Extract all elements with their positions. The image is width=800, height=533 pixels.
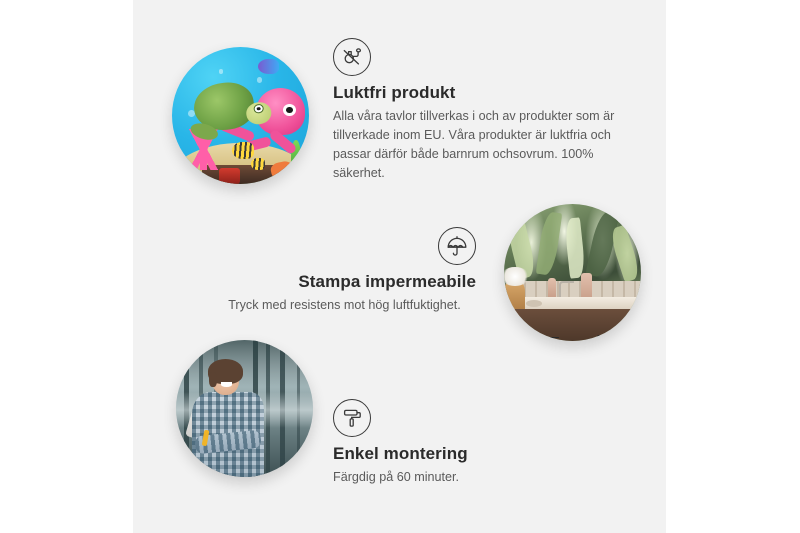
bathroom-wallpaper-photo[interactable] [504,204,641,341]
painter-forest-photo[interactable] [176,340,313,477]
turtle-eye [253,103,264,114]
feature-description: Tryck med resistens mot hög luftfuktighe… [213,296,476,315]
screenshot-root: Luktfri produkt Alla våra tavlor tillver… [0,0,800,533]
feature-description: Alla våra tavlor tillverkas i och av pro… [333,107,629,183]
bubble-icon [257,77,262,82]
woman-hair [208,359,244,384]
bubble-icon [219,69,224,74]
drawer-handle [538,337,559,338]
striped-fish-icon [251,158,265,170]
feature-title: Luktfri produkt [333,83,629,103]
feature-odour-free: Luktfri produkt Alla våra tavlor tillver… [333,38,629,183]
purple-fish-icon [258,59,279,74]
woman-smile [221,382,232,386]
painter-scene [176,340,313,477]
underwater-artwork [172,47,309,184]
umbrella-icon [438,227,476,265]
soap-dish [526,300,542,307]
underwater-cartoon-photo[interactable] [172,47,309,184]
feature-title: Stampa impermeabile [213,272,476,292]
feature-description: Färgdig på 60 minuter. [333,468,593,487]
drawer-handle [597,335,601,339]
no-odour-perfume-bottle-icon [333,38,371,76]
forest-canopy [176,340,313,387]
octopus-eye [283,104,296,116]
feature-waterproof-print: Stampa impermeabile Tryck med resistens … [213,227,476,315]
bathroom-scene [504,204,641,341]
paint-roller-icon [333,399,371,437]
feature-title: Enkel montering [333,444,593,464]
striped-fish-icon [232,142,254,160]
wood-vanity-cabinet [512,309,641,341]
feature-easy-mounting: Enkel montering Färgdig på 60 minuter. [333,399,593,487]
